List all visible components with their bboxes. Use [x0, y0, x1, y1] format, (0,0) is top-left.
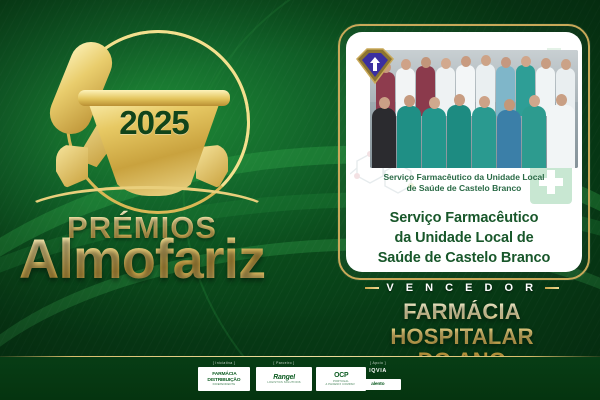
sponsor-logo-text-1a: Rangel	[273, 374, 295, 381]
kicker-dash-left-icon	[365, 287, 379, 289]
winner-name: Serviço Farmacêutico da Unidade Local de…	[354, 208, 574, 268]
winner-card: Serviço Farmacêutico da Unidade Local de…	[346, 32, 582, 272]
sponsor-kicker-3: [ Apoio ]	[355, 361, 401, 365]
sponsor-logo-farmacia-distribuicao: FARMÁCIA DISTRIBUIÇÃO INDEPENDENTE	[198, 367, 250, 391]
kicker-dash-right-icon	[545, 287, 559, 289]
winner-name-line-3: Saúde de Castelo Branco	[354, 248, 574, 268]
award-banner: 2025 PRÉMIOS Almofariz	[0, 0, 600, 400]
sponsor-kicker-0: [ Iniciativa ]	[198, 361, 250, 365]
brand-logo: 2025 PRÉMIOS Almofariz	[8, 18, 276, 268]
sponsor-logo-sub-2: A PHOENIX COMPANY	[325, 383, 356, 386]
winner-name-line-1: Serviço Farmacêutico	[354, 208, 574, 228]
award-year: 2025	[86, 104, 222, 142]
winner-kicker: V E N C E D O R	[386, 282, 537, 294]
sponsor-item-1: [ Parceiro ] Rangel LOGISTICS SOLUTIONS	[256, 361, 312, 391]
sponsor-logo-iqvia: IQVIA	[355, 367, 401, 377]
sponsor-kicker-1: [ Parceiro ]	[256, 361, 312, 365]
sponsor-logo-text-0b: DISTRIBUIÇÃO	[207, 378, 240, 383]
winner-kicker-row: V E N C E D O R	[330, 282, 594, 294]
mortar-shield-icon	[354, 46, 396, 86]
mortar-handle-left-icon	[56, 144, 88, 188]
winner-photo	[370, 50, 578, 168]
sponsor-item-3: [ Apoio ] IQVIA alento	[355, 361, 401, 390]
photo-caption-line-1: Serviço Farmacêutico da Unidade Local	[350, 172, 578, 183]
sponsor-logo-text-3a: IQVIA	[369, 369, 387, 375]
sponsor-logo-text-3b: alento	[371, 382, 384, 387]
sponsor-logo-text-2a: OCP	[334, 372, 348, 379]
photo-caption: Serviço Farmacêutico da Unidade Local de…	[350, 172, 578, 195]
photo-caption-line-2: de Saúde de Castelo Branco	[350, 183, 578, 194]
sponsor-bar: [ Iniciativa ] FARMÁCIA DISTRIBUIÇÃO IND…	[0, 357, 600, 400]
sponsor-item-0: [ Iniciativa ] FARMÁCIA DISTRIBUIÇÃO IND…	[198, 361, 250, 391]
sponsor-logo-rangel: Rangel LOGISTICS SOLUTIONS	[256, 367, 312, 391]
brand-title-almofariz: Almofariz	[8, 226, 276, 291]
sponsor-logo-alento: alento	[355, 379, 401, 390]
winner-card-frame: Serviço Farmacêutico da Unidade Local de…	[338, 24, 590, 280]
award-category-line-1: FARMÁCIA HOSPITALAR	[330, 300, 594, 349]
sponsor-logo-sub-1: LOGISTICS SOLUTIONS	[267, 381, 300, 384]
winner-name-line-2: da Unidade Local de	[354, 228, 574, 248]
